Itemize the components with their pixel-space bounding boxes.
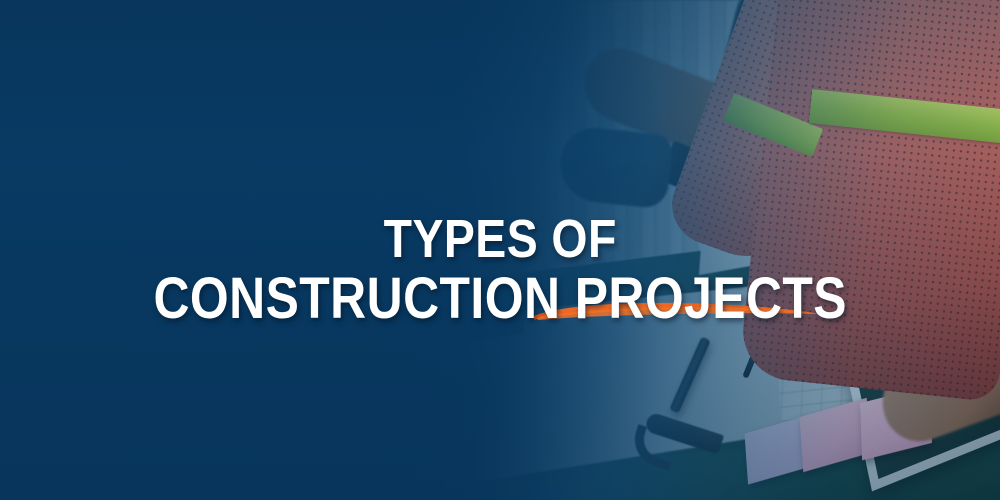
vignette-overlay xyxy=(0,0,1000,500)
hero-banner: TYPES OF CONSTRUCTION PROJECTS xyxy=(0,0,1000,500)
